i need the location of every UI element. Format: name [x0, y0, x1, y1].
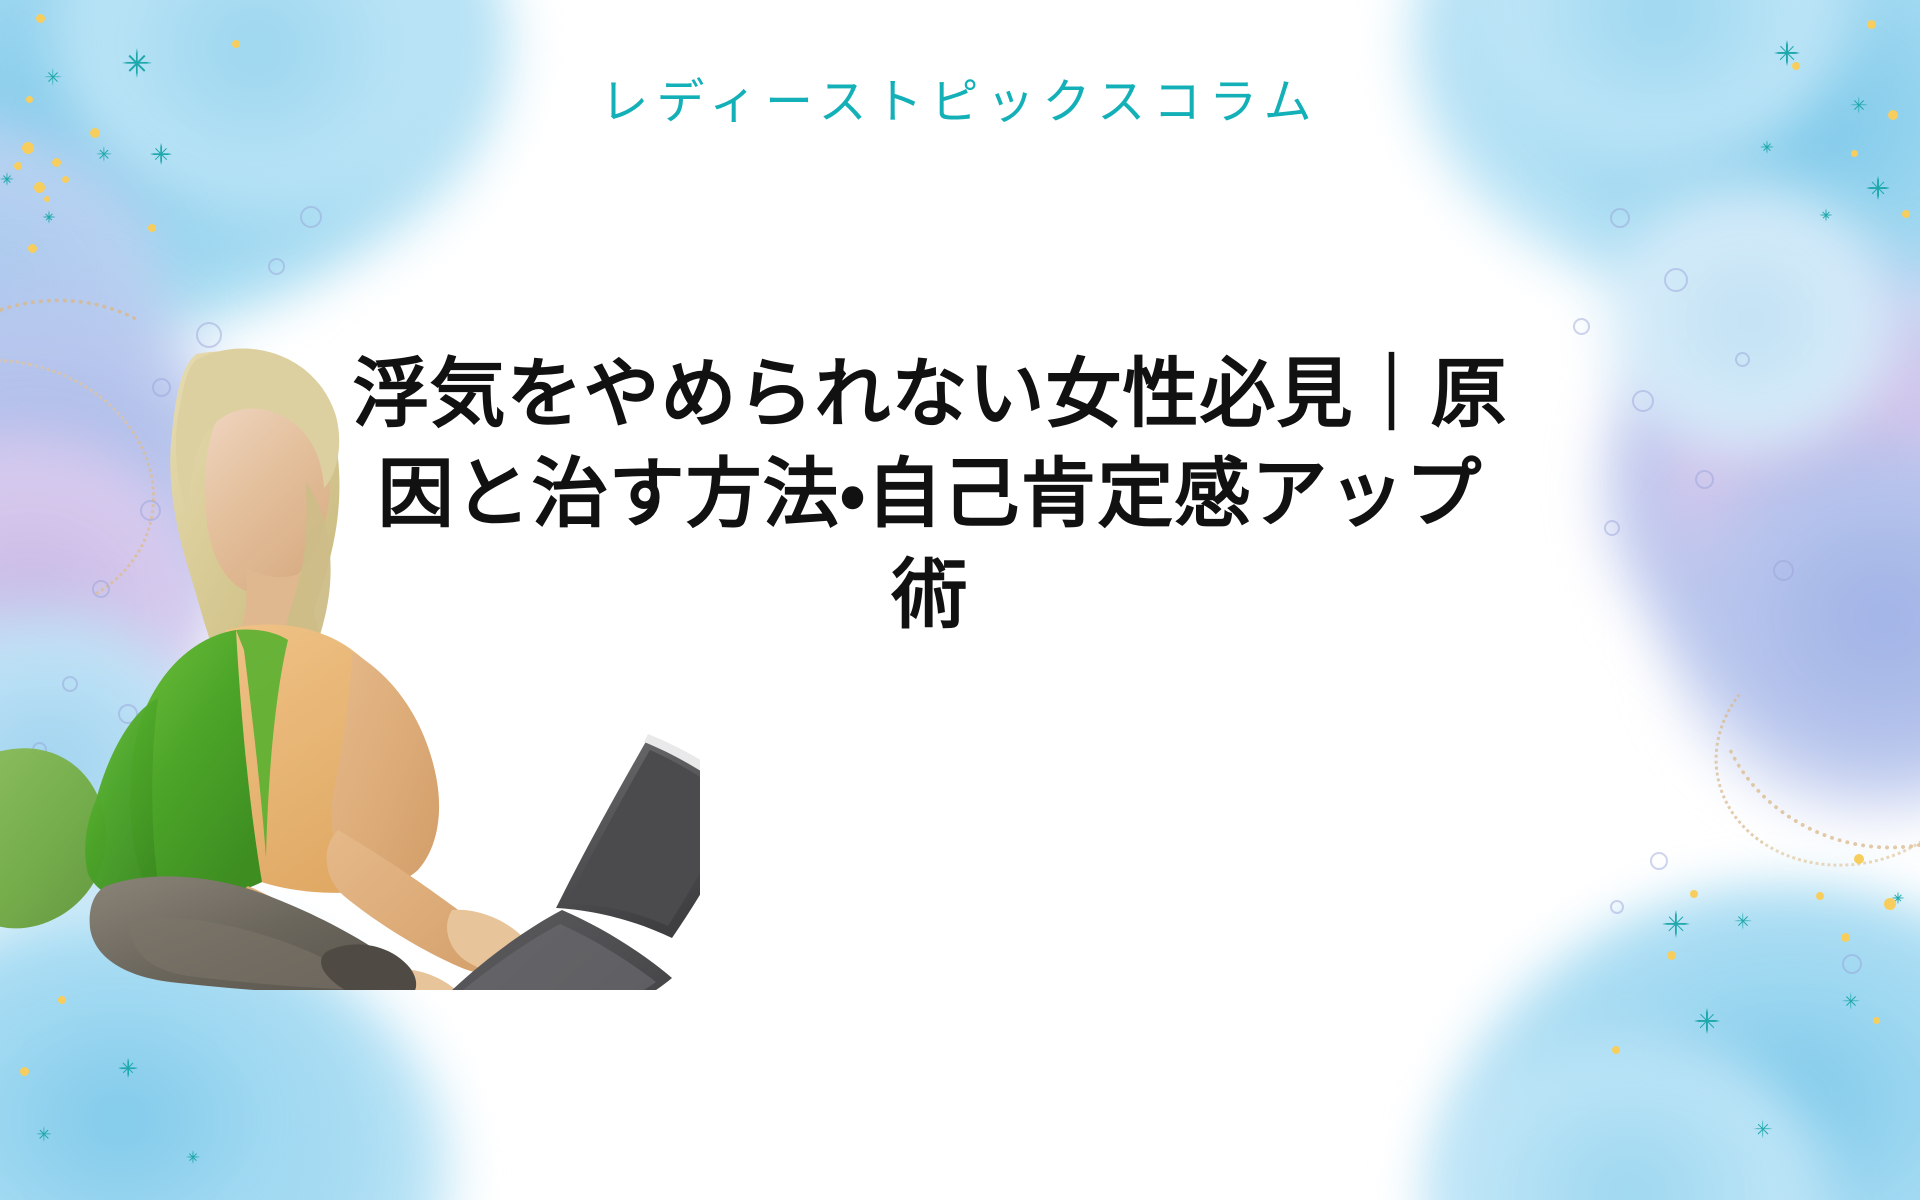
- confetti-dot: [1792, 62, 1800, 70]
- bubble-circle: [300, 206, 322, 228]
- confetti-dot: [28, 244, 37, 253]
- confetti-dot: [58, 996, 66, 1004]
- watercolor-blob-top-right-2: [1570, 0, 1920, 340]
- sparkle-star-icon: [1866, 176, 1890, 200]
- bubble-circle: [1610, 900, 1624, 914]
- confetti-dot: [34, 182, 45, 193]
- header: レディーストピックスコラム: [0, 74, 1920, 132]
- watercolor-blob-right-middle-3: [1660, 430, 1920, 820]
- bubble-circle: [1604, 520, 1620, 536]
- sparkle-star-icon: [0, 172, 14, 186]
- bubble-circle: [1773, 560, 1794, 581]
- glitter-arc-right-2: [1696, 619, 1920, 888]
- confetti-dot: [1851, 150, 1858, 157]
- confetti-dot: [22, 142, 34, 154]
- watercolor-blob-right-middle-1: [1600, 250, 1920, 720]
- page-title-line-2: 因と治す方法・自己肯定感アップ: [280, 445, 1580, 545]
- confetti-dot: [44, 196, 50, 202]
- knee: [321, 944, 416, 990]
- poster-canvas: レディーストピックスコラム 浮気をやめられない女性必見｜原 因と治す方法・自己肯…: [0, 0, 1920, 1200]
- confetti-dot: [148, 224, 156, 232]
- sparkle-star-icon: [36, 1126, 52, 1142]
- confetti-dot: [1816, 892, 1824, 900]
- watercolor-blob-right-middle-4: [1600, 180, 1900, 460]
- bubble-circle: [1610, 208, 1630, 228]
- bubble-circle: [1842, 954, 1862, 974]
- bubble-circle: [1650, 852, 1668, 870]
- sparkle-star-icon: [118, 1058, 138, 1078]
- sparkle-star-icon: [1694, 1008, 1720, 1034]
- confetti-dot: [1667, 951, 1676, 960]
- sparkle-star-icon: [42, 210, 55, 223]
- sparkle-star-icon: [1774, 40, 1800, 66]
- sparkle-star-icon: [1760, 140, 1774, 154]
- confetti-dot: [20, 1067, 29, 1076]
- bubble-circle: [268, 258, 285, 275]
- glitter-arc-right-1: [1674, 513, 1920, 895]
- page-title-line-3: 術: [280, 546, 1580, 646]
- confetti-dot: [1841, 933, 1850, 942]
- site-category-label: レディーストピックスコラム: [600, 74, 1319, 132]
- watercolor-blob-top-left-2: [0, 0, 380, 350]
- bubble-circle: [1632, 390, 1654, 412]
- watercolor-blob-right-middle-2: [1650, 300, 1920, 630]
- confetti-dot: [1867, 20, 1876, 29]
- confetti-dot: [1854, 854, 1864, 864]
- sparkle-star-icon: [1891, 891, 1904, 904]
- bubble-circle: [1664, 268, 1688, 292]
- confetti-dot: [1884, 898, 1896, 910]
- confetti-dot: [52, 158, 61, 167]
- watercolor-blob-top-left-1: [0, 0, 510, 305]
- watercolor-blob-bottom-right-2: [1530, 890, 1920, 1200]
- watercolor-blob-bottom-right-3: [1420, 1040, 1840, 1200]
- bubble-circle: [1735, 352, 1750, 367]
- page-title: 浮気をやめられない女性必見｜原 因と治す方法・自己肯定感アップ 術: [280, 345, 1580, 646]
- sparkle-star-icon: [186, 1150, 200, 1164]
- sparkle-star-icon: [1842, 992, 1860, 1010]
- watercolor-blob-bottom-right-1: [1440, 890, 1920, 1200]
- sparkle-star-icon: [96, 146, 112, 162]
- tank-top-back: [85, 698, 160, 901]
- confetti-dot: [1902, 210, 1910, 218]
- bubble-circle: [1573, 318, 1590, 335]
- sparkle-star-icon: [1753, 1119, 1772, 1138]
- confetti-dot: [1612, 1046, 1620, 1054]
- sparkle-star-icon: [1734, 912, 1752, 930]
- confetti-dot: [36, 14, 45, 23]
- sparkle-star-icon: [1819, 208, 1832, 221]
- page-title-line-1: 浮気をやめられない女性必見｜原: [280, 345, 1580, 445]
- sparkle-star-icon: [1662, 910, 1690, 938]
- bubble-circle: [1695, 470, 1714, 489]
- confetti-dot: [14, 162, 22, 170]
- confetti-dot: [1873, 1017, 1880, 1024]
- sparkle-star-icon: [150, 143, 172, 165]
- watercolor-blob-top-right-1: [1410, 0, 1920, 310]
- confetti-dot: [62, 176, 69, 183]
- confetti-dot: [232, 40, 240, 48]
- confetti-dot: [1690, 890, 1698, 898]
